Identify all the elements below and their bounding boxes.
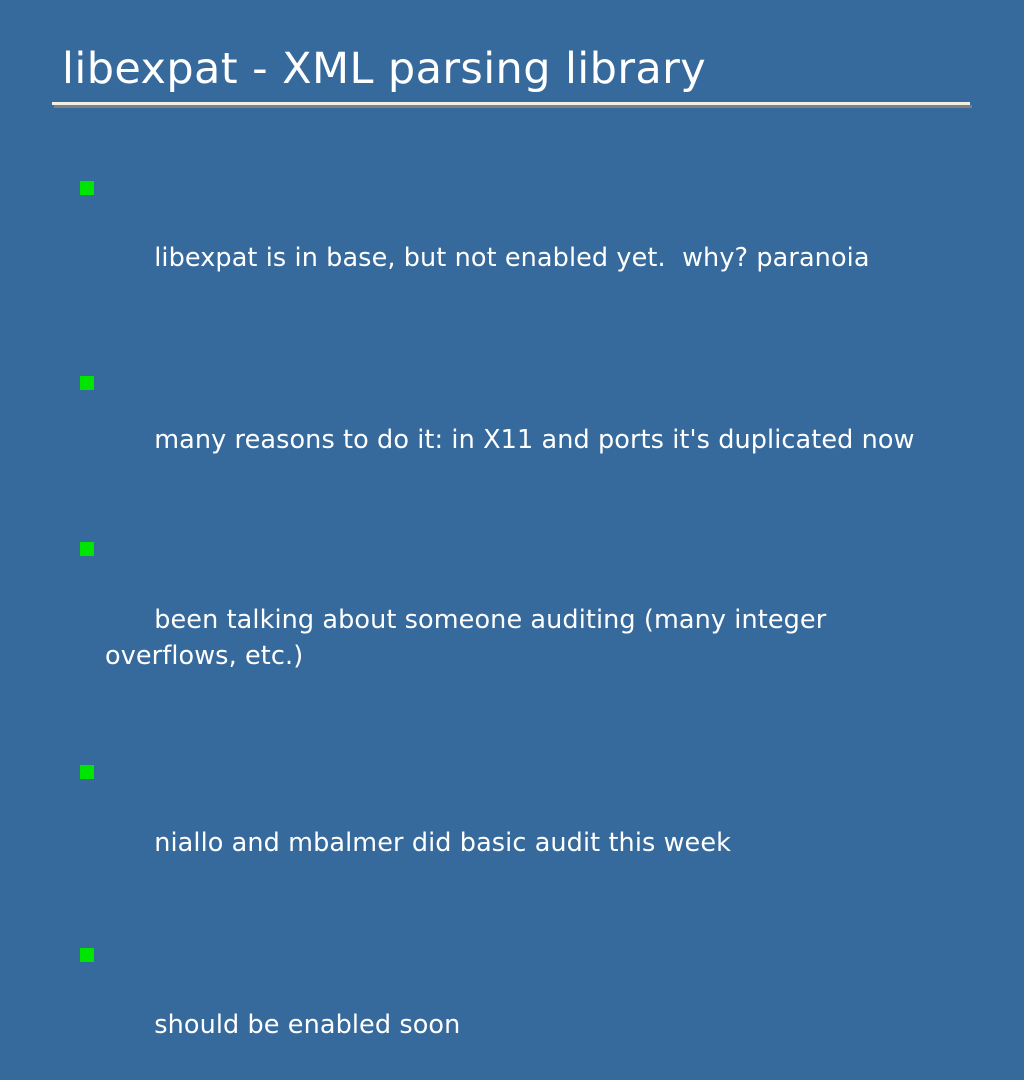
square-bullet-icon — [80, 181, 94, 195]
list-item: been talking about someone auditing (man… — [80, 529, 960, 710]
slide-title-block: libexpat - XML parsing library — [52, 44, 972, 105]
list-item: niallo and mbalmer did basic audit this … — [80, 752, 960, 897]
list-item-label: been talking about someone auditing (man… — [105, 605, 835, 671]
slide-bullet-list: libexpat is in base, but not enabled yet… — [80, 168, 960, 1080]
list-item-label: libexpat is in base, but not enabled yet… — [154, 243, 869, 273]
page-title: libexpat - XML parsing library — [52, 44, 972, 95]
presentation-slide: libexpat - XML parsing library libexpat … — [0, 0, 1024, 768]
list-item: many reasons to do it: in X11 and ports … — [80, 363, 960, 487]
title-underline-rule — [52, 102, 970, 105]
list-item: libexpat is in base, but not enabled yet… — [80, 168, 960, 313]
list-item-label: many reasons to do it: in X11 and ports … — [154, 425, 914, 455]
list-item-label: niallo and mbalmer did basic audit this … — [154, 828, 731, 858]
square-bullet-icon — [80, 542, 94, 556]
square-bullet-icon — [80, 765, 94, 779]
list-item-label: should be enabled soon — [154, 1010, 460, 1040]
square-bullet-icon — [80, 376, 94, 390]
square-bullet-icon — [80, 948, 94, 962]
list-item: should be enabled soon — [80, 935, 960, 1080]
